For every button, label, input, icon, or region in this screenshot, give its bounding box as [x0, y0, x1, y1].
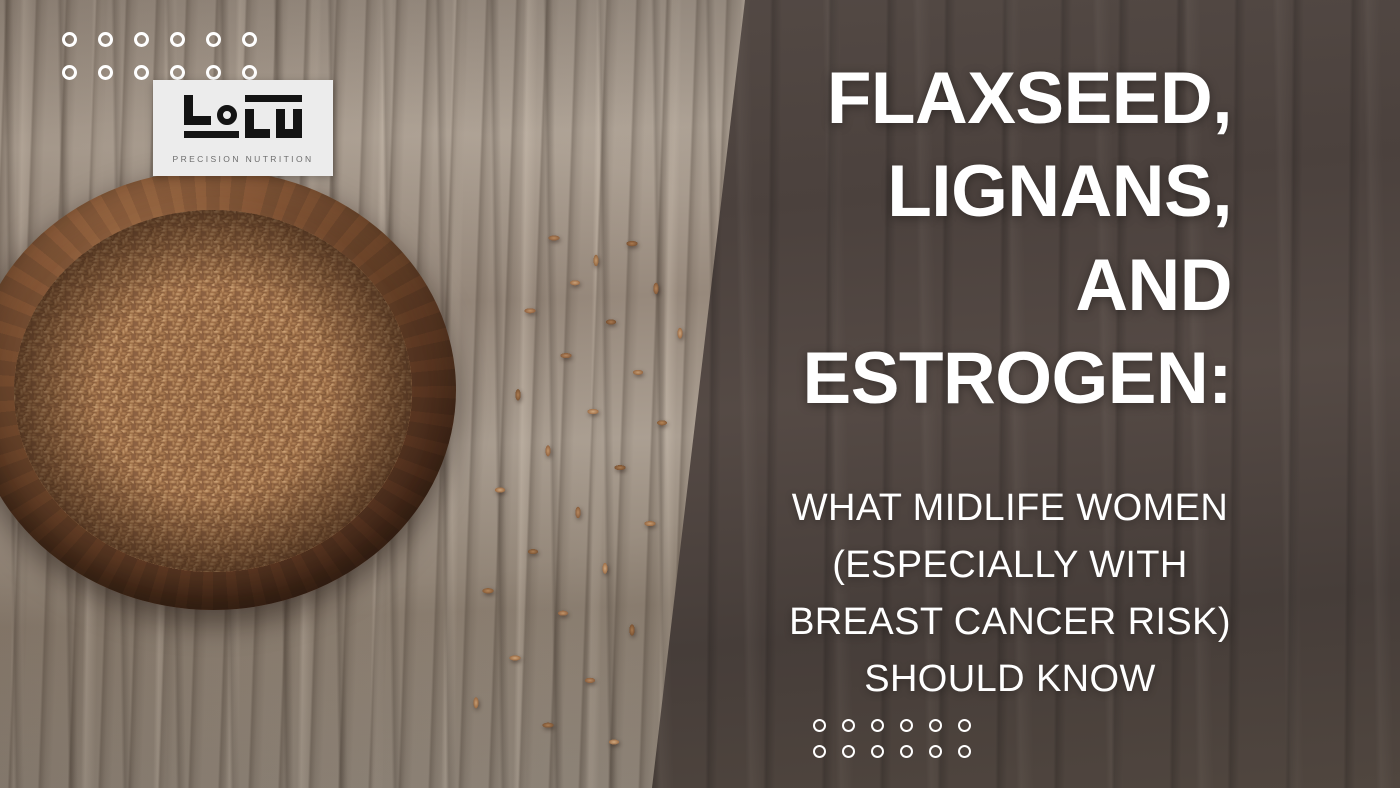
circle-outline-icon [871, 745, 884, 758]
logo-letter-l-foot [184, 116, 211, 125]
headline-line-3: AND [592, 239, 1232, 332]
circle-outline-icon [929, 745, 942, 758]
circle-outline-icon [958, 719, 971, 732]
social-graphic-canvas: PRECISION NUTRITION FLAXSEED, LIGNANS, A… [0, 0, 1400, 788]
circle-outline-icon [206, 65, 221, 80]
logo-letter-o [217, 105, 237, 125]
circle-outline-icon [871, 719, 884, 732]
bowl-inner-shadow [14, 210, 412, 572]
subhead-line-2: (ESPECIALLY WITH [760, 537, 1260, 594]
circle-outline-icon [813, 719, 826, 732]
bowl-interior [14, 210, 412, 572]
dot-grid-bottom [813, 719, 987, 771]
flaxseed-bowl-image [0, 170, 470, 622]
circle-outline-icon [242, 65, 257, 80]
circle-outline-icon [929, 719, 942, 732]
circle-outline-icon [62, 32, 77, 47]
logo-overline-rule [245, 95, 302, 102]
circle-outline-icon [242, 32, 257, 47]
circle-outline-icon [842, 719, 855, 732]
logo-letter-u-base [276, 129, 302, 138]
logo-underline-rule [184, 131, 239, 138]
circle-outline-icon [813, 745, 826, 758]
brand-logo-card: PRECISION NUTRITION [153, 80, 333, 176]
subhead-line-1: WHAT MIDLIFE WOMEN [760, 480, 1260, 537]
brand-tagline: PRECISION NUTRITION [173, 154, 314, 164]
logo-letter-l2-foot [245, 129, 270, 138]
subhead-line-4: SHOULD KNOW [760, 651, 1260, 708]
circle-outline-icon [134, 32, 149, 47]
subhead-line-3: BREAST CANCER RISK) [760, 594, 1260, 651]
circle-outline-icon [206, 32, 221, 47]
circle-outline-icon [170, 65, 185, 80]
circle-outline-icon [134, 65, 149, 80]
headline-line-4: ESTROGEN: [592, 332, 1232, 425]
circle-outline-icon [170, 32, 185, 47]
circle-outline-icon [98, 65, 113, 80]
lolu-logo-mark [184, 93, 302, 145]
circle-outline-icon [958, 745, 971, 758]
circle-outline-icon [62, 65, 77, 80]
circle-outline-icon [842, 745, 855, 758]
page-subtitle: WHAT MIDLIFE WOMEN (ESPECIALLY WITH BREA… [760, 480, 1260, 708]
circle-outline-icon [98, 32, 113, 47]
headline-line-2: LIGNANS, [592, 145, 1232, 238]
headline-line-1: FLAXSEED, [592, 52, 1232, 145]
circle-outline-icon [900, 719, 913, 732]
page-title: FLAXSEED, LIGNANS, AND ESTROGEN: [592, 52, 1232, 426]
circle-outline-icon [900, 745, 913, 758]
